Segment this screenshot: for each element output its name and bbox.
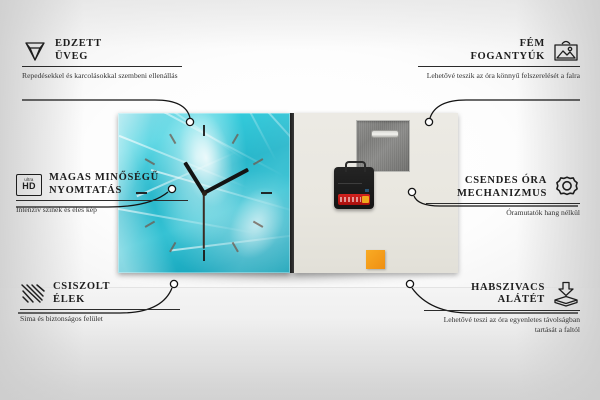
callout-divider: [22, 66, 182, 67]
callout-header: ultra HD MAGAS MINŐSÉGŰ NYOMTATÁS: [16, 172, 188, 197]
mechanism-handle: [345, 161, 366, 172]
gear-icon: [554, 175, 580, 200]
callout-header: CSISZOLT ÉLEK: [20, 281, 180, 306]
callout-header: CSENDES ÓRA MECHANIZMUS: [426, 175, 580, 200]
wall-mount-icon: [552, 39, 580, 63]
callout-magas-minosegu-nyomtatas[interactable]: ultra HD MAGAS MINŐSÉGŰ NYOMTATÁS Intenz…: [16, 172, 188, 215]
callout-header: HABSZIVACS ALÁTÉT: [424, 281, 580, 307]
diamond-icon: [22, 39, 48, 63]
battery-label: [340, 197, 361, 202]
callout-title: CSENDES ÓRA MECHANIZMUS: [457, 175, 547, 200]
battery-positive-terminal: [362, 196, 369, 203]
callout-divider: [424, 310, 580, 311]
callout-description: Óramutatók hang nélkül: [426, 208, 580, 218]
callout-divider: [418, 66, 580, 67]
callout-description: Intenzív színek és éles kép: [16, 205, 188, 215]
callout-description: Sima és biztonságos felület: [20, 314, 180, 324]
callout-description: Repedésekkel és karcolásokkal szembeni e…: [22, 71, 182, 81]
callout-description: Lehetővé teszi az óra egyenletes távolsá…: [424, 315, 580, 334]
clock-mechanism: [334, 167, 374, 209]
callout-title: MAGAS MINŐSÉGŰ NYOMTATÁS: [49, 172, 159, 197]
callout-description: Lehetővé teszik az óra könnyű felszerelé…: [418, 71, 580, 81]
callout-divider: [426, 203, 580, 204]
callout-fem-fogantyuk[interactable]: FÉM FOGANTYÚK Lehetővé teszik az óra kön…: [418, 38, 580, 81]
callout-header: EDZETT ÜVEG: [22, 38, 182, 63]
callout-csiszolt-elek[interactable]: CSISZOLT ÉLEK Sima és biztonságos felüle…: [20, 281, 180, 324]
foam-pad-icon: [552, 281, 580, 307]
callout-header: FÉM FOGANTYÚK: [418, 38, 580, 63]
callout-title: CSISZOLT ÉLEK: [53, 281, 110, 306]
infographic-canvas: EDZETT ÜVEG Repedésekkel és karcolásokka…: [0, 0, 600, 400]
callout-divider: [20, 309, 180, 310]
callout-divider: [16, 200, 188, 201]
panel-side-edge: [290, 113, 294, 273]
hanger-slot: [371, 130, 399, 138]
foam-pad: [366, 250, 385, 269]
callout-title: FÉM FOGANTYÚK: [470, 38, 545, 63]
callout-title: EDZETT ÜVEG: [55, 38, 102, 63]
battery: [338, 194, 370, 205]
callout-title: HABSZIVACS ALÁTÉT: [471, 282, 545, 307]
mechanism-marking: [365, 189, 369, 192]
ultra-hd-icon: ultra HD: [16, 174, 42, 196]
callout-csendes-ora-mechanizmus[interactable]: CSENDES ÓRA MECHANIZMUS Óramutatók hang …: [426, 175, 580, 218]
callout-edzett-uveg[interactable]: EDZETT ÜVEG Repedésekkel és karcolásokka…: [22, 38, 182, 81]
mechanism-seam: [338, 183, 362, 184]
polished-edge-icon: [20, 283, 46, 305]
callout-habszivacs-alatet[interactable]: HABSZIVACS ALÁTÉT Lehetővé teszi az óra …: [424, 281, 580, 334]
